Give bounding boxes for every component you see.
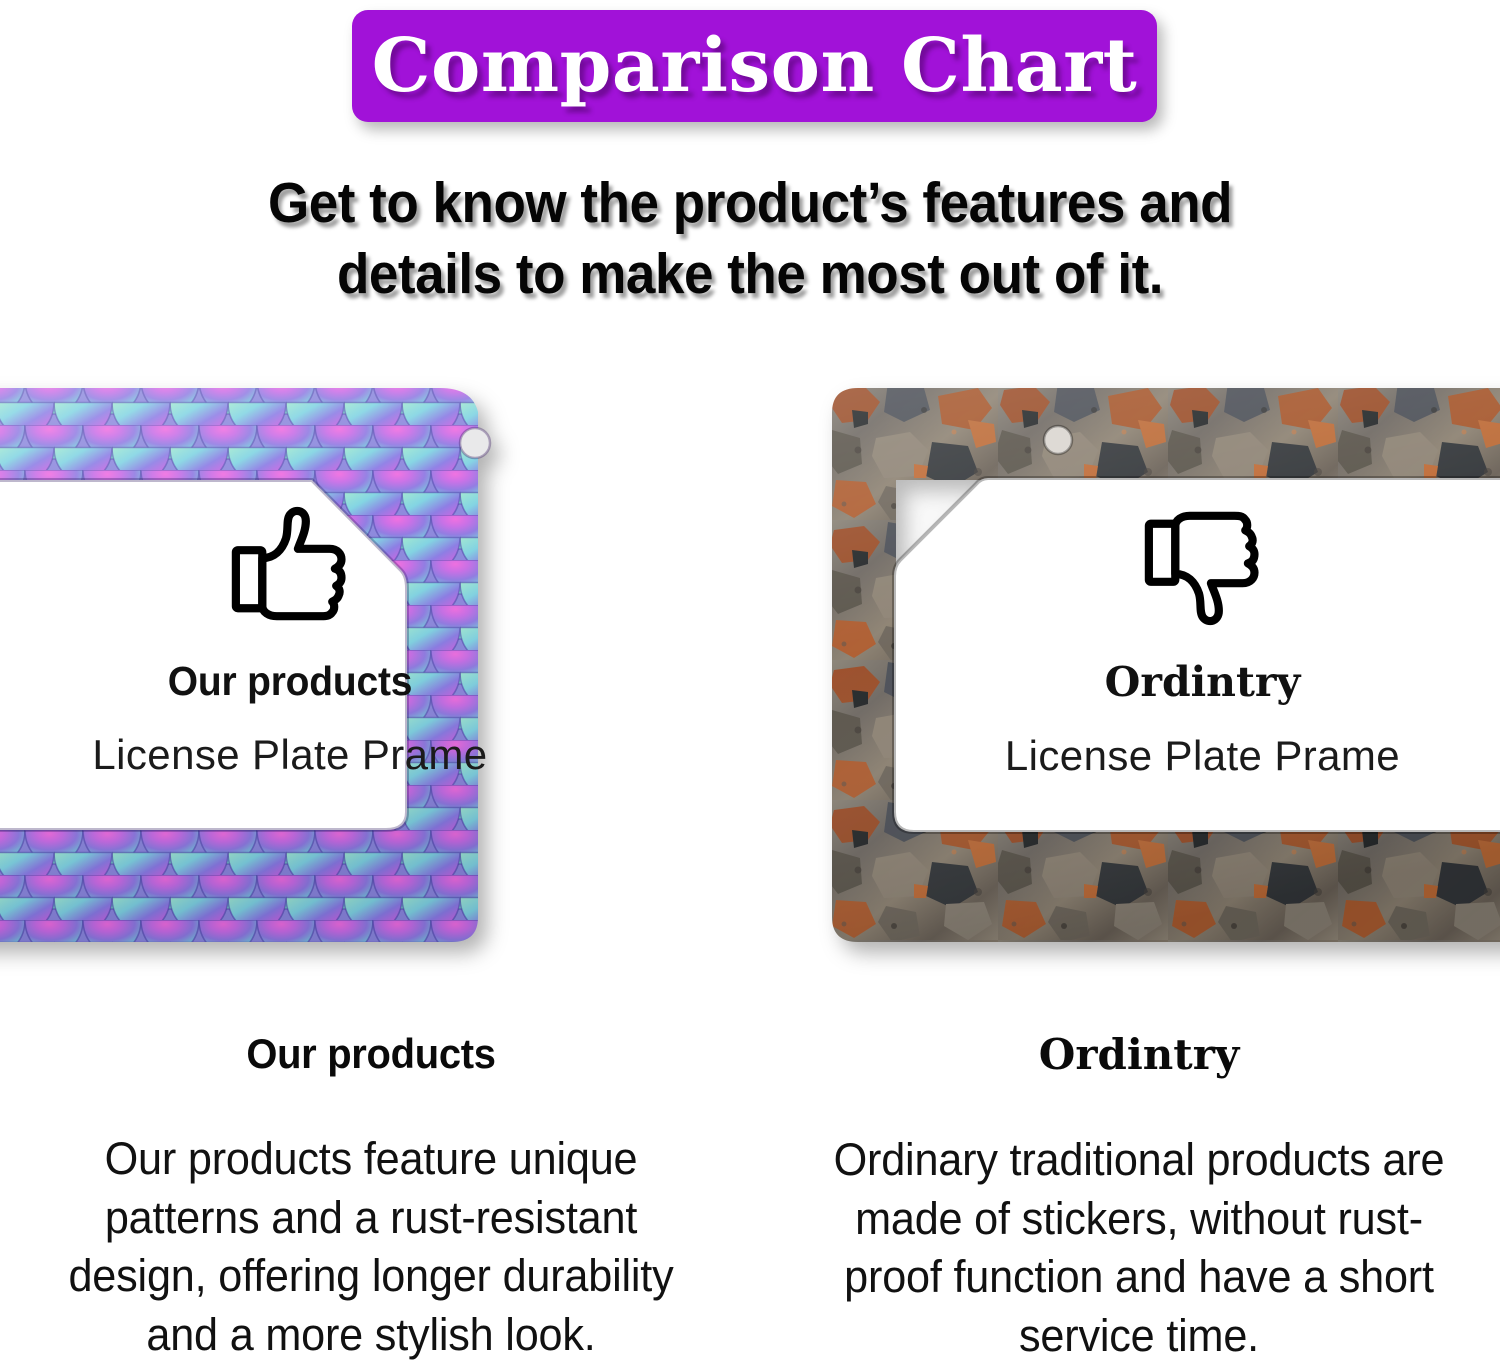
our-products-body: Our products feature unique patterns and… [40, 1130, 702, 1364]
our-products-heading: Our products [43, 1030, 699, 1078]
our-product-plate-frame [0, 380, 720, 955]
ordintry-description-column: Ordintry Ordinary traditional products a… [794, 1030, 1484, 1365]
our-products-description-column: Our products Our products feature unique… [26, 1030, 716, 1364]
ordintry-body: Ordinary traditional products are made o… [808, 1131, 1470, 1365]
ordintry-heading: Ordintry [794, 1030, 1484, 1079]
ordinary-product-plate-frame [828, 380, 1500, 955]
